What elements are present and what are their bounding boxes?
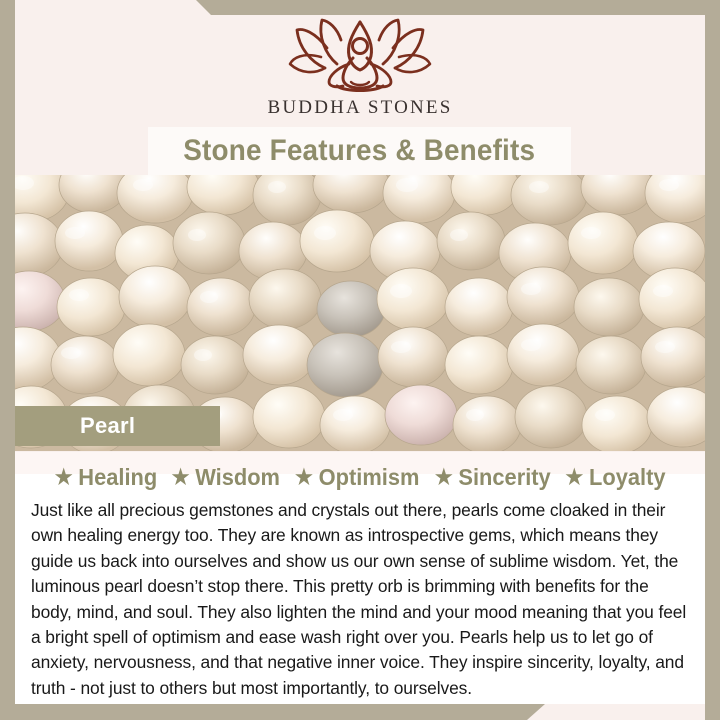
star-icon: ★ bbox=[435, 467, 453, 488]
stone-name-bar: Pearl bbox=[15, 406, 220, 446]
star-icon: ★ bbox=[55, 467, 73, 488]
description-text: Just like all precious gemstones and cry… bbox=[31, 498, 693, 701]
lotus-meditation-figure-icon bbox=[285, 18, 435, 96]
star-icon: ★ bbox=[295, 467, 313, 488]
keyword-label: Healing bbox=[78, 464, 157, 491]
content-panel: ★ Healing ★ Wisdom ★ Optimism ★ Sincerit… bbox=[15, 452, 705, 704]
stone-name: Pearl bbox=[15, 413, 135, 439]
keyword-label: Loyalty bbox=[589, 464, 666, 491]
keyword-optimism: ★ Optimism bbox=[286, 464, 419, 491]
keyword-healing: ★ Healing bbox=[55, 464, 158, 491]
keyword-label: Wisdom bbox=[195, 464, 280, 491]
keyword-wisdom: ★ Wisdom bbox=[163, 464, 280, 491]
brand-logo: BUDDHA STONES bbox=[245, 18, 475, 119]
page-title: Stone Features & Benefits bbox=[184, 134, 536, 168]
frame-border-bottom bbox=[0, 704, 720, 720]
keyword-label: Sincerity bbox=[458, 464, 550, 491]
star-icon: ★ bbox=[171, 467, 189, 488]
brand-name: BUDDHA STONES bbox=[245, 97, 475, 119]
title-banner: Stone Features & Benefits bbox=[148, 127, 571, 175]
keyword-label: Optimism bbox=[318, 464, 419, 491]
star-icon: ★ bbox=[565, 467, 583, 488]
keyword-loyalty: ★ Loyalty bbox=[557, 464, 666, 491]
brand-header: BUDDHA STONES bbox=[0, 0, 720, 126]
stone-features-infographic: BUDDHA STONES Stone Features & Benefits bbox=[0, 0, 720, 720]
keyword-sincerity: ★ Sincerity bbox=[426, 464, 550, 491]
benefit-keywords: ★ Healing ★ Wisdom ★ Optimism ★ Sincerit… bbox=[15, 464, 705, 491]
